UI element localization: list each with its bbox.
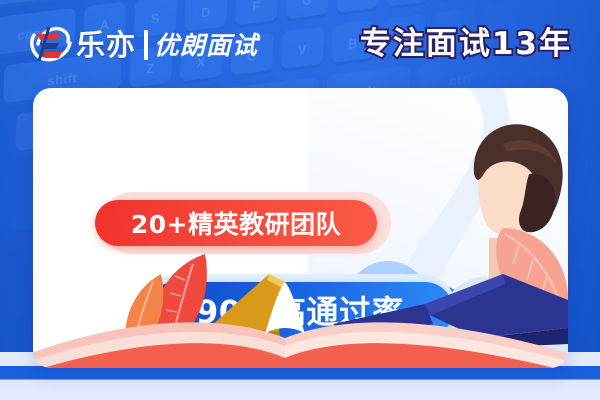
brand-lockup[interactable]: 乐亦 优朗面试 (27, 24, 258, 66)
brand-subtitle: 优朗面试 (154, 33, 258, 58)
promo-banner: ~1234567890-=tabQWERTYUIOP[]capsASDFGHJK… (0, 0, 600, 400)
content-card: 20+精英教研团队 90%高通过率 8000+成功案例 (33, 88, 568, 368)
brand-name: 乐亦 (76, 31, 136, 60)
pill-elite-team[interactable]: 20+精英教研团队 (95, 200, 377, 246)
tagline: 专注面试13年 (360, 22, 572, 66)
brand-divider (144, 30, 148, 60)
pill-halo-success-cases (65, 366, 337, 368)
background-bottom-bevel (0, 366, 600, 400)
pill-pass-rate[interactable]: 90%高通过率 (147, 282, 453, 338)
leyi-e-swoosh-logo (27, 25, 75, 65)
banner-header: 乐亦 优朗面试 专注面试13年 (0, 0, 600, 88)
